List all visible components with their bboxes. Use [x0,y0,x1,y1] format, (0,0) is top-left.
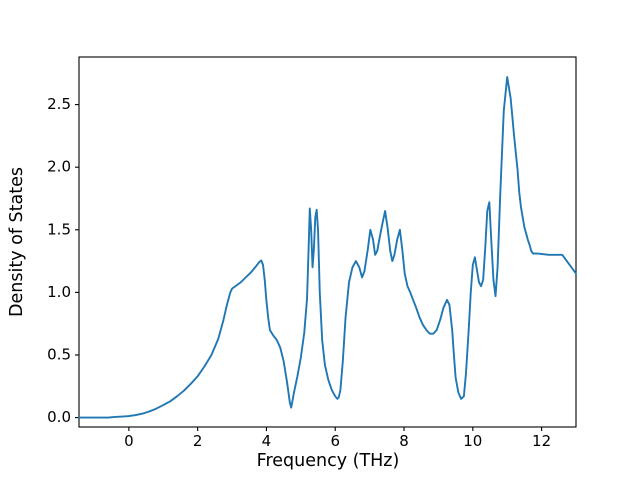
y-tick-label-1.5: 1.5 [47,220,71,238]
x-tick-label-6: 6 [330,432,340,450]
plot-frame [79,57,576,427]
y-axis-label: Density of States [7,167,27,317]
figure-canvas: 0246810120.00.51.01.52.02.5 Frequency (T… [0,0,640,480]
x-tick-label-12: 12 [532,432,551,450]
x-tick-label-8: 8 [399,432,409,450]
dos-plot: 0246810120.00.51.01.52.02.5 Frequency (T… [0,0,640,480]
x-tick-label-10: 10 [463,432,482,450]
dos-curve-group [79,77,576,418]
x-tick-label-0: 0 [124,432,134,450]
axes-frame [79,57,576,427]
y-tick-label-2.5: 2.5 [47,95,71,113]
x-tick-label-2: 2 [193,432,203,450]
y-tick-label-0.5: 0.5 [47,346,71,364]
y-tick-label-1.0: 1.0 [47,283,71,301]
axis-tick-labels: 0246810120.00.51.01.52.02.5 [47,95,551,450]
x-axis-label: Frequency (THz) [257,451,400,471]
dos-line [79,77,576,418]
y-tick-label-0.0: 0.0 [47,408,71,426]
x-tick-label-4: 4 [262,432,272,450]
y-tick-label-2.0: 2.0 [47,158,71,176]
